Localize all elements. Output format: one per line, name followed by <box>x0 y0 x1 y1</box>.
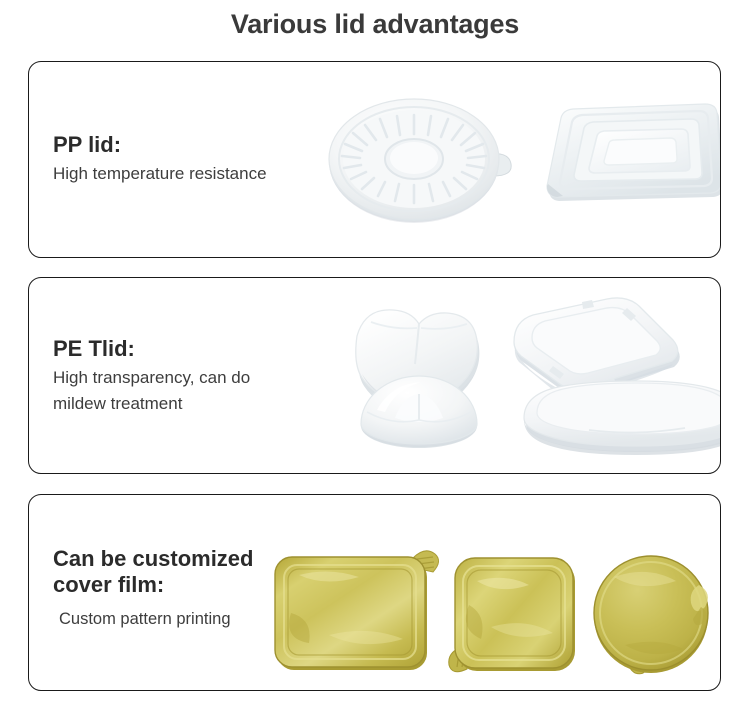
gold-square-cover-film <box>449 558 575 672</box>
panel-pp-lid: PP lid: High temperature resistance <box>28 61 721 258</box>
round-ribbed-pp-lid <box>329 99 511 223</box>
rectangular-pp-lid <box>547 104 721 201</box>
oval-flat-pe-lid <box>524 381 721 455</box>
cover-film-description: Custom pattern printing <box>53 607 253 633</box>
panel-cover-film: Can be customized cover film: Custom pat… <box>28 494 721 691</box>
square-pe-dome-lid <box>514 298 680 398</box>
pe-lid-heading: PE Tlid: <box>53 336 250 362</box>
panel-pe-lid: PE Tlid: High transparency, can do milde… <box>28 277 721 474</box>
gold-round-cover-film <box>594 556 708 674</box>
gold-rectangular-cover-film <box>275 551 439 670</box>
pp-lid-text-block: PP lid: High temperature resistance <box>53 132 267 187</box>
pp-lid-description: High temperature resistance <box>53 161 267 187</box>
pp-lid-heading: PP lid: <box>53 132 267 158</box>
round-pe-dome-lid <box>361 376 477 448</box>
infographic-page: Various lid advantages <box>0 0 750 712</box>
pe-lid-text-block: PE Tlid: High transparency, can do milde… <box>53 336 250 418</box>
cover-film-text-block: Can be customized cover film: Custom pat… <box>53 546 253 632</box>
cover-film-heading: Can be customized cover film: <box>53 546 253 598</box>
pe-lid-description: High transparency, can do mildew treatme… <box>53 365 250 418</box>
heart-shaped-pe-dome-lid <box>356 310 480 415</box>
page-title: Various lid advantages <box>0 9 750 40</box>
